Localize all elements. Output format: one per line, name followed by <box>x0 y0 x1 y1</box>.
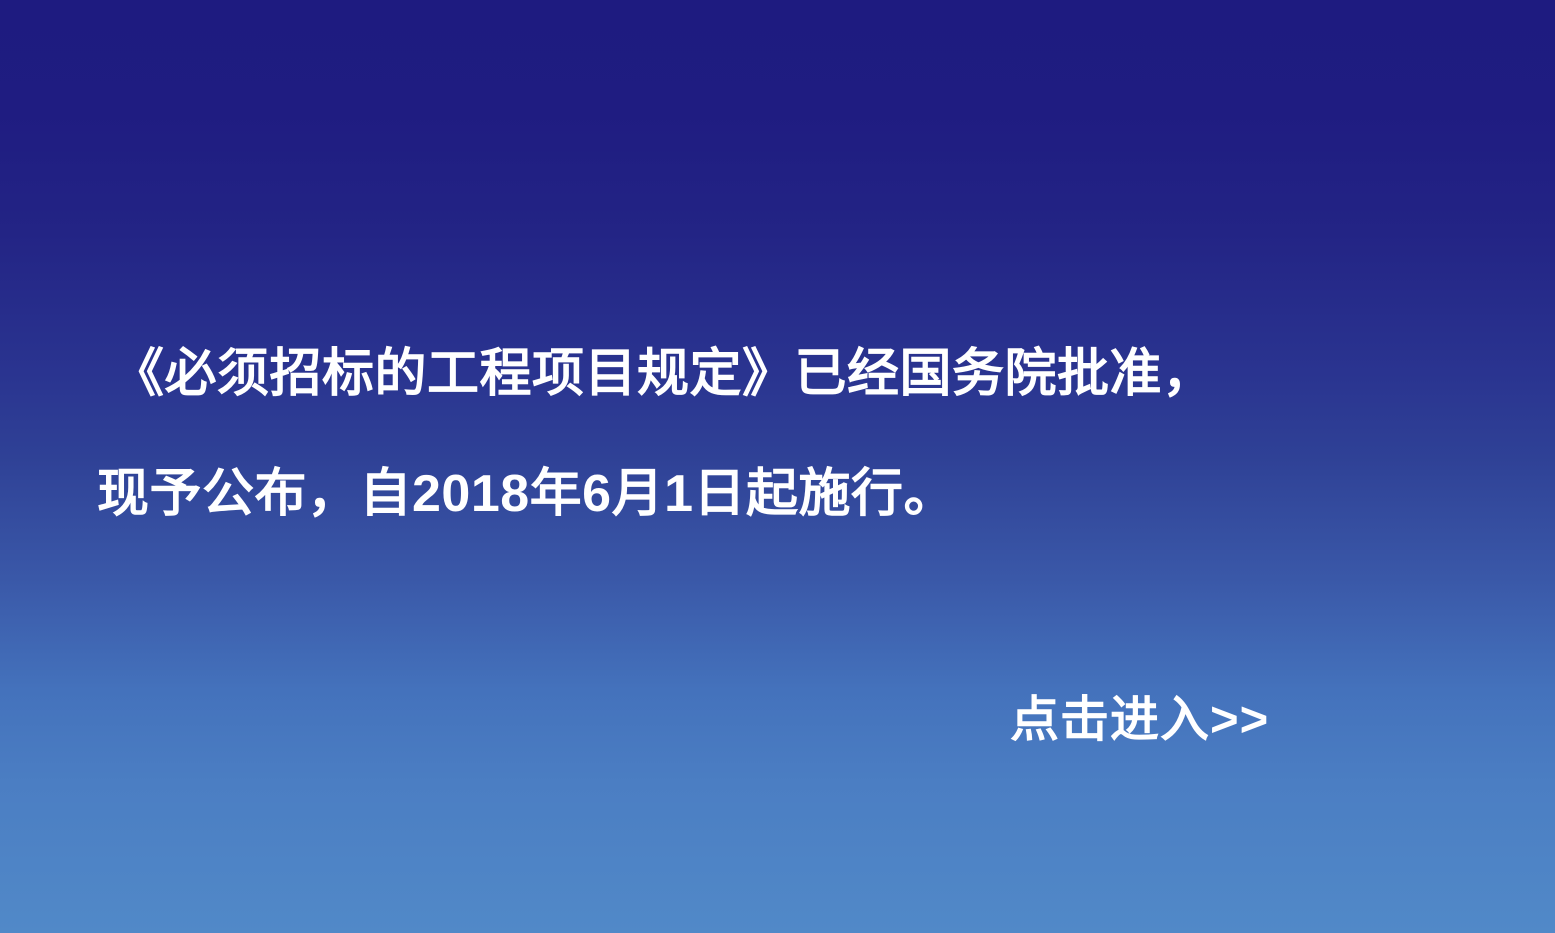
statement-line-2: 现予公布，自2018年6月1日起施行。 <box>97 468 956 530</box>
enter-link[interactable]: 点击进入>> <box>1010 696 1269 745</box>
statement-line-1: 《必须招标的工程项目规定》已经国务院批准， <box>112 348 1215 410</box>
promo-banner: 《必须招标的工程项目规定》已经国务院批准， 现予公布，自2018年6月1日起施行… <box>0 0 1555 933</box>
